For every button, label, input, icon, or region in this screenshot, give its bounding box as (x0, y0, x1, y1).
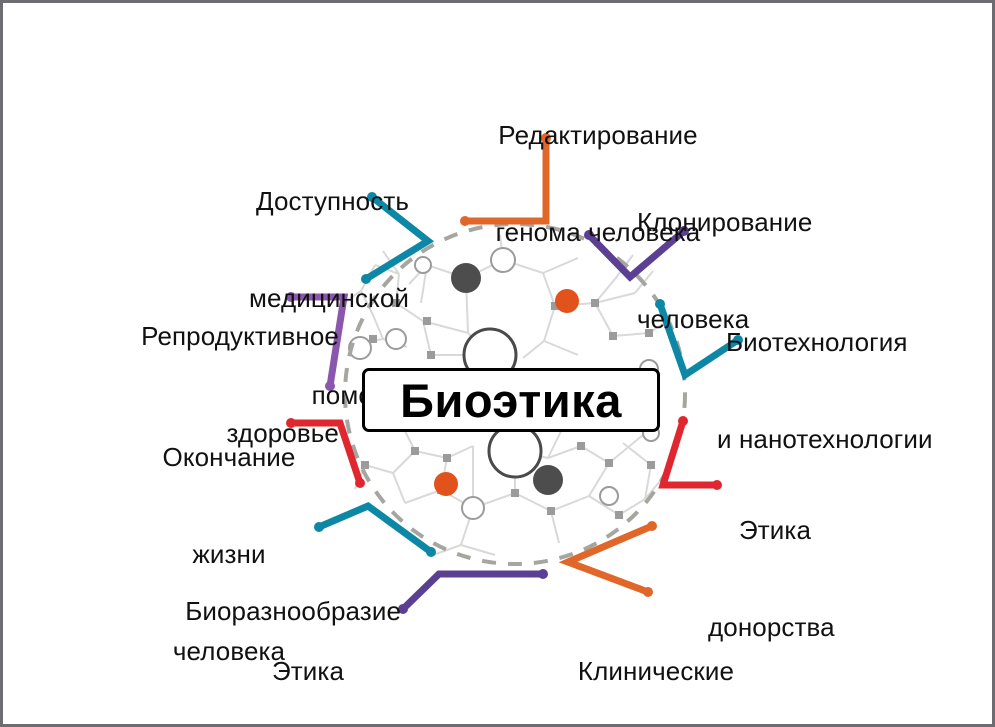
connector-donation (663, 416, 722, 490)
label-access-line2: медицинской (131, 282, 409, 314)
center-title-box: Биоэтика (362, 368, 660, 432)
label-donation-ethics: Этика донорства (739, 450, 969, 708)
label-human-cloning-line1: Клонирование (637, 206, 887, 238)
diagram-canvas: Редактирование генома человека Клонирова… (0, 0, 995, 727)
label-endoflife-line3: человека (149, 635, 309, 667)
label-biotech-line1: Биотехнология (726, 326, 995, 358)
label-endoflife-line2: жизни (149, 538, 309, 570)
label-donation-line1: Этика (739, 514, 969, 546)
label-clinical-research: Клинические исследования (543, 591, 769, 727)
center-title-text: Биоэтика (400, 377, 622, 424)
label-access-line1: Доступность (131, 185, 409, 217)
label-clinical-line1: Клинические (543, 655, 769, 687)
